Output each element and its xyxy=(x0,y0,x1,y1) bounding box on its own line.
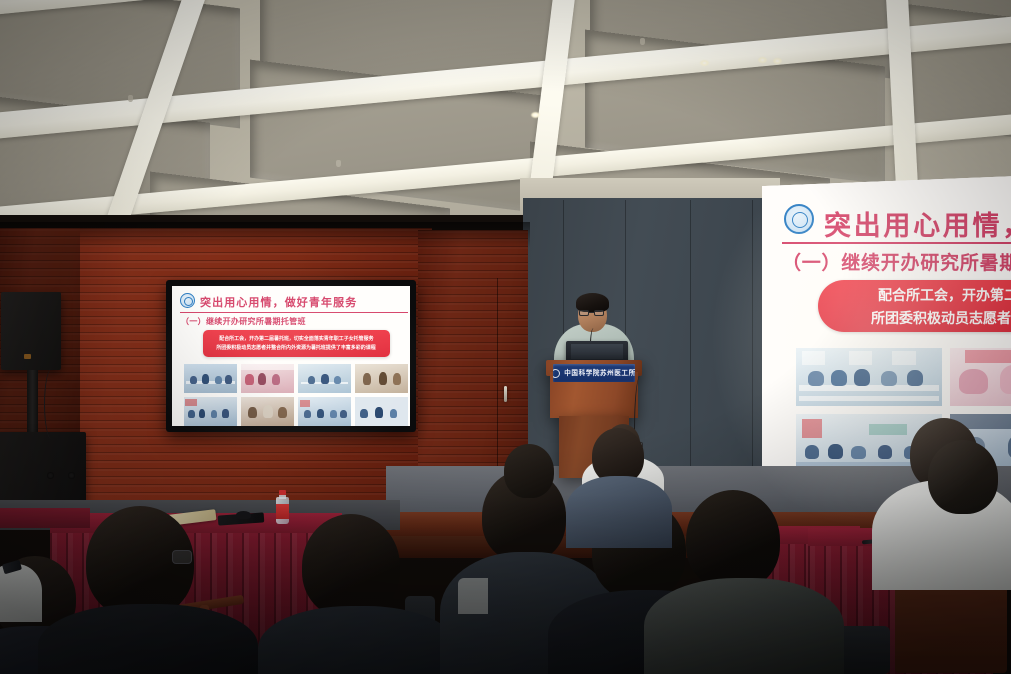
slide-photo xyxy=(241,364,294,393)
slide-photo xyxy=(796,348,942,406)
sprinkler-head xyxy=(128,95,133,102)
slide-photo xyxy=(355,397,408,426)
door-handle[interactable] xyxy=(504,386,507,402)
audience-body xyxy=(258,606,458,674)
tv-slide-photo-grid xyxy=(184,364,408,426)
cas-emblem-icon xyxy=(553,369,560,378)
audience-member xyxy=(548,428,668,538)
audience-member xyxy=(268,514,448,674)
tv-banner-line-1: 配合所工会，开办第二届暑托班，切实全面落实青年职工子女托管服务 xyxy=(219,335,373,343)
audience-member xyxy=(0,548,42,618)
projection-slide-divider xyxy=(782,242,1011,244)
audience-member xyxy=(910,440,1011,570)
tv-screen: 突出用心用情，做好青年服务 （一）继续开办研究所暑期托管班 配合所工会，开办第二… xyxy=(172,286,410,426)
slide-photo xyxy=(298,364,351,393)
projection-banner-line-1: 配合所工会，开办第二 xyxy=(878,285,1011,305)
audience-member xyxy=(660,490,826,674)
audience-head xyxy=(504,444,554,498)
tv-banner-line-2: 所团委积极动员志愿者并整合所内外资源为暑托班提供了丰富多彩的课程 xyxy=(217,344,376,352)
slide-photo xyxy=(241,397,294,426)
projection-slide-subtitle: （一）继续开办研究所暑期托 xyxy=(782,248,1011,275)
audience-body xyxy=(38,604,258,674)
presenter-glasses xyxy=(594,310,604,316)
audience-head xyxy=(686,490,780,590)
recessed-downlight xyxy=(531,112,540,118)
wall-mounted-tv: 突出用心用情，做好青年服务 （一）继续开办研究所暑期托管班 配合所工会，开办第二… xyxy=(166,280,416,432)
recessed-downlight xyxy=(773,58,782,64)
audience-collar xyxy=(458,578,488,614)
audience-member xyxy=(496,438,566,512)
audience-member xyxy=(56,506,246,674)
slide-photo xyxy=(184,397,237,426)
institute-seal-logo xyxy=(180,293,195,308)
lectern-sign-text: 中国科学院苏州医工所 xyxy=(564,368,635,377)
glasses-bridge xyxy=(589,312,594,313)
slide-photo xyxy=(184,364,237,393)
projection-slide-title: 突出用心用情，做 xyxy=(824,204,1011,243)
audience-glasses xyxy=(172,550,192,564)
recessed-downlight xyxy=(700,60,709,66)
slide-photo xyxy=(355,364,408,393)
tv-slide-title: 突出用心用情，做好青年服务 xyxy=(200,294,357,310)
sprinkler-head xyxy=(640,38,645,45)
institute-seal-logo xyxy=(784,204,814,234)
audience-head xyxy=(928,440,998,514)
audience-head xyxy=(302,514,400,618)
projection-banner-line-2: 所团委积极动员志愿者并 xyxy=(871,308,1011,328)
conference-hall-photo: 突出用心用情，做好青年服务 （一）继续开办研究所暑期托管班 配合所工会，开办第二… xyxy=(0,0,1011,674)
audience-body xyxy=(644,578,844,674)
speaker-cable xyxy=(44,368,60,440)
slide-photo xyxy=(950,348,1011,406)
tv-slide-banner: 配合所工会，开办第二届暑托班，切实全面落实青年职工子女托管服务 所团委积极动员志… xyxy=(203,330,390,357)
presenter-glasses xyxy=(579,310,589,316)
tv-slide-divider xyxy=(180,312,408,313)
slide-photo xyxy=(298,397,351,426)
tv-slide-subtitle: （一）继续开办研究所暑期托管班 xyxy=(181,316,306,327)
projection-slide-banner: 配合所工会，开办第二 所团委积极动员志愿者并 xyxy=(818,280,1011,332)
tv-slide: 突出用心用情，做好青年服务 （一）继续开办研究所暑期托管班 配合所工会，开办第二… xyxy=(172,286,410,426)
recessed-downlight xyxy=(758,57,767,63)
sprinkler-head xyxy=(336,160,341,167)
lectern-name-plate: 中国科学院苏州医工所 xyxy=(553,364,635,382)
pa-speaker-upper xyxy=(1,292,61,370)
audience-body xyxy=(566,476,672,548)
